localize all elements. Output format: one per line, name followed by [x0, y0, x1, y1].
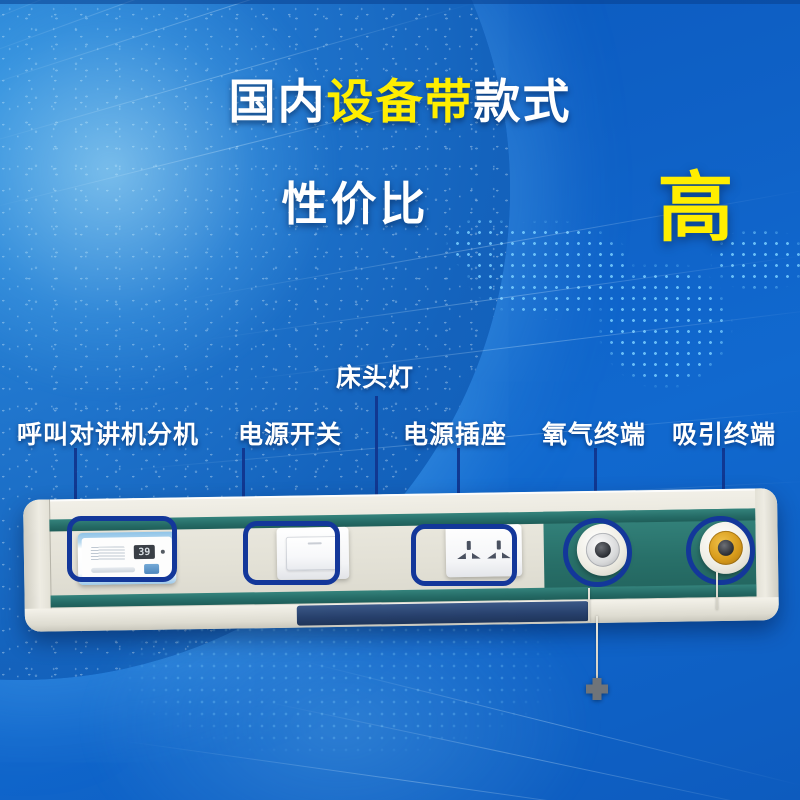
headline-emphasis: 高 — [658, 146, 735, 256]
callout-label-2: 床头灯 — [336, 358, 414, 394]
headline-subtext: 性价比 — [282, 168, 429, 234]
callout-label-3: 电源插座 — [403, 415, 507, 451]
promo-banner: 国内设备带款式 性价比 高 呼叫对讲机分机电源开关床头灯电源插座氧气终端吸引终端… — [0, 0, 800, 800]
headline-block: 国内设备带款式 — [0, 78, 800, 125]
pull-cord-fitting-icon[interactable] — [586, 678, 608, 700]
callout-label-5: 吸引终端 — [672, 415, 776, 451]
highlight-intercom — [67, 516, 177, 582]
highlight-socket — [411, 524, 517, 586]
top-edge-band — [0, 0, 800, 4]
highlight-suction-terminal — [686, 516, 755, 585]
headline-part-2: 设备带 — [327, 75, 474, 128]
headline-line-1: 国内设备带款式 — [0, 78, 800, 125]
highlight-oxygen-terminal — [563, 518, 632, 587]
oxygen-cord — [588, 588, 590, 622]
callout-label-1: 电源开关 — [238, 415, 342, 451]
callout-label-0: 呼叫对讲机分机 — [17, 415, 199, 451]
suction-cord — [716, 572, 718, 610]
headline-part-3: 款式 — [474, 75, 572, 128]
callout-label-4: 氧气终端 — [542, 415, 646, 451]
bed-lamp-pull-cord — [596, 616, 598, 686]
world-map-dot-pattern — [430, 150, 800, 450]
headline-part-1: 国内 — [229, 75, 327, 128]
highlight-switch — [243, 521, 340, 585]
